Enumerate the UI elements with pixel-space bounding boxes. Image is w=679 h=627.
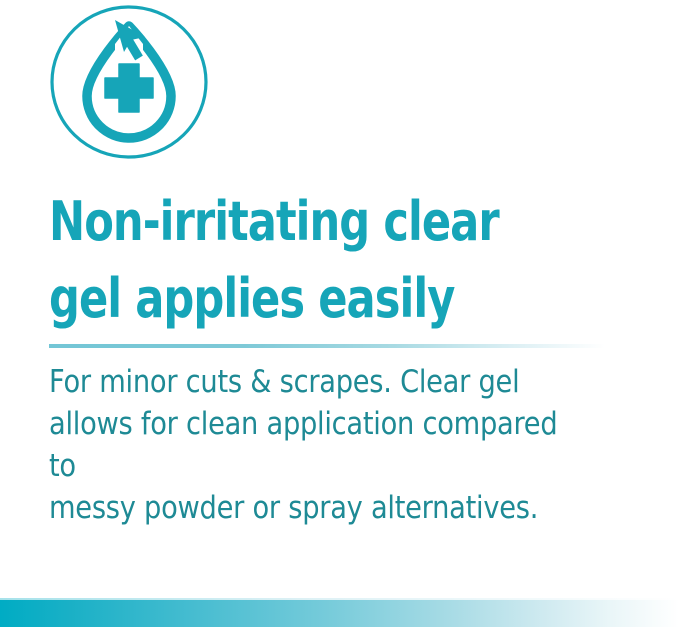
- droplet-medical-cross-arrow-icon: [49, 4, 209, 164]
- divider: [49, 344, 605, 348]
- feature-callout-panel: Non-irritating clear gel applies easily …: [0, 0, 679, 627]
- decorative-gradient-bar: [0, 600, 679, 627]
- body-description: For minor cuts & scrapes. Clear gel allo…: [49, 361, 588, 529]
- page-title: Non-irritating clear gel applies easily: [49, 183, 529, 337]
